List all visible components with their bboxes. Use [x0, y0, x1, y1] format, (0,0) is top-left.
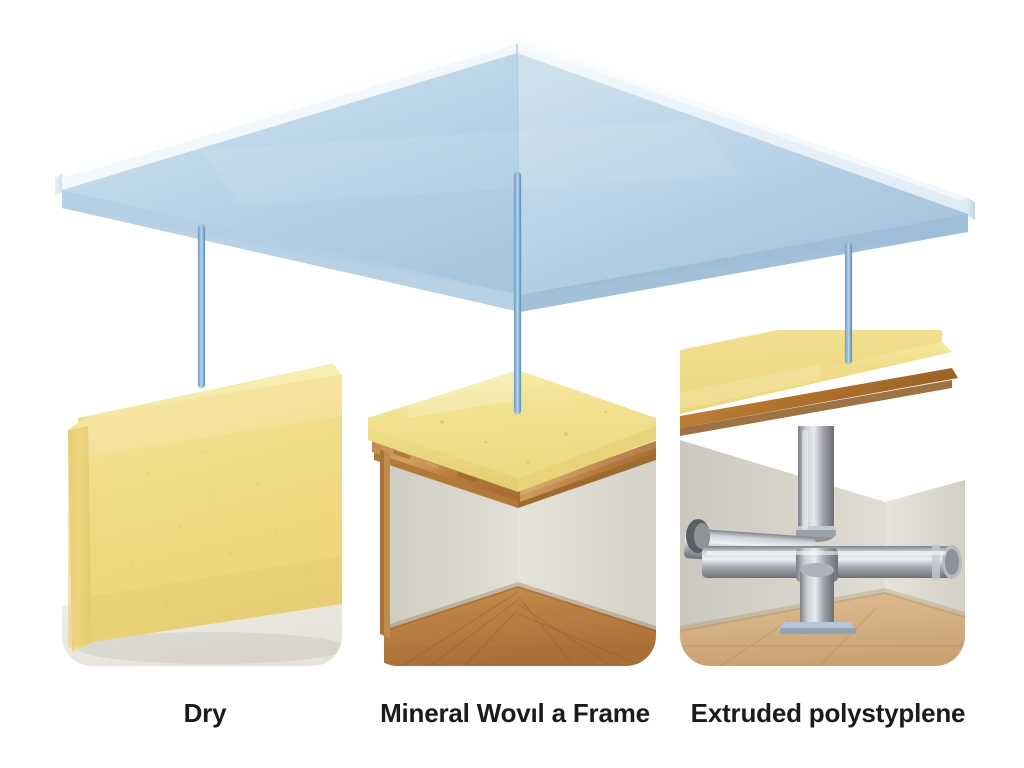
mineral-wool-frame-illustration: [368, 330, 656, 666]
panel-label-extruded-polystyplene: Extruded polystyplene: [678, 698, 978, 729]
panel-card-extruded-polystyplene[interactable]: [680, 330, 965, 666]
panel-card-mineral-wool[interactable]: [368, 330, 656, 666]
connector-rod-center: [514, 172, 521, 414]
duct-and-xps-illustration: [680, 330, 965, 666]
connector-rod-left: [198, 225, 205, 388]
connector-rod-right: [845, 243, 852, 364]
diagram-canvas: Dry Mineral Wovıl a Frame Extruded polys…: [0, 0, 1024, 768]
panel-label-dry: Dry: [55, 698, 355, 729]
foam-board-illustration: [62, 356, 342, 666]
panel-card-dry[interactable]: [62, 356, 342, 666]
panel-label-mineral-wool: Mineral Wovıl a Frame: [365, 698, 665, 729]
